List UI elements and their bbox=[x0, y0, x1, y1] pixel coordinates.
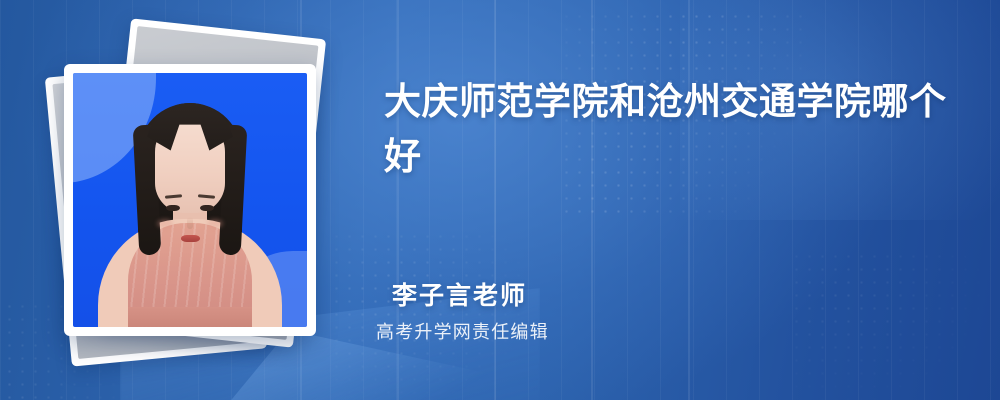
dress-waistband bbox=[128, 307, 252, 327]
photo-card-stack bbox=[42, 22, 342, 374]
cover-banner: 大庆师范学院和沧州交通学院哪个好 李子言老师 高考升学网责任编辑 bbox=[0, 0, 1000, 400]
portrait-illustration bbox=[73, 73, 307, 327]
eyebrow-left bbox=[165, 194, 182, 198]
avatar-card bbox=[64, 64, 316, 336]
avatar bbox=[73, 73, 307, 327]
eye-right bbox=[200, 205, 214, 211]
blush-left bbox=[157, 219, 173, 228]
text-content: 大庆师范学院和沧州交通学院哪个好 李子言老师 高考升学网责任编辑 bbox=[374, 0, 974, 400]
nose-shape bbox=[187, 217, 193, 229]
mouth-shape bbox=[181, 235, 200, 242]
eye-left bbox=[166, 205, 180, 211]
article-title: 大庆师范学院和沧州交通学院哪个好 bbox=[384, 74, 954, 184]
eyebrow-right bbox=[198, 194, 215, 198]
author-name: 李子言老师 bbox=[392, 276, 527, 312]
blush-right bbox=[207, 219, 223, 228]
author-role: 高考升学网责任编辑 bbox=[376, 318, 549, 344]
